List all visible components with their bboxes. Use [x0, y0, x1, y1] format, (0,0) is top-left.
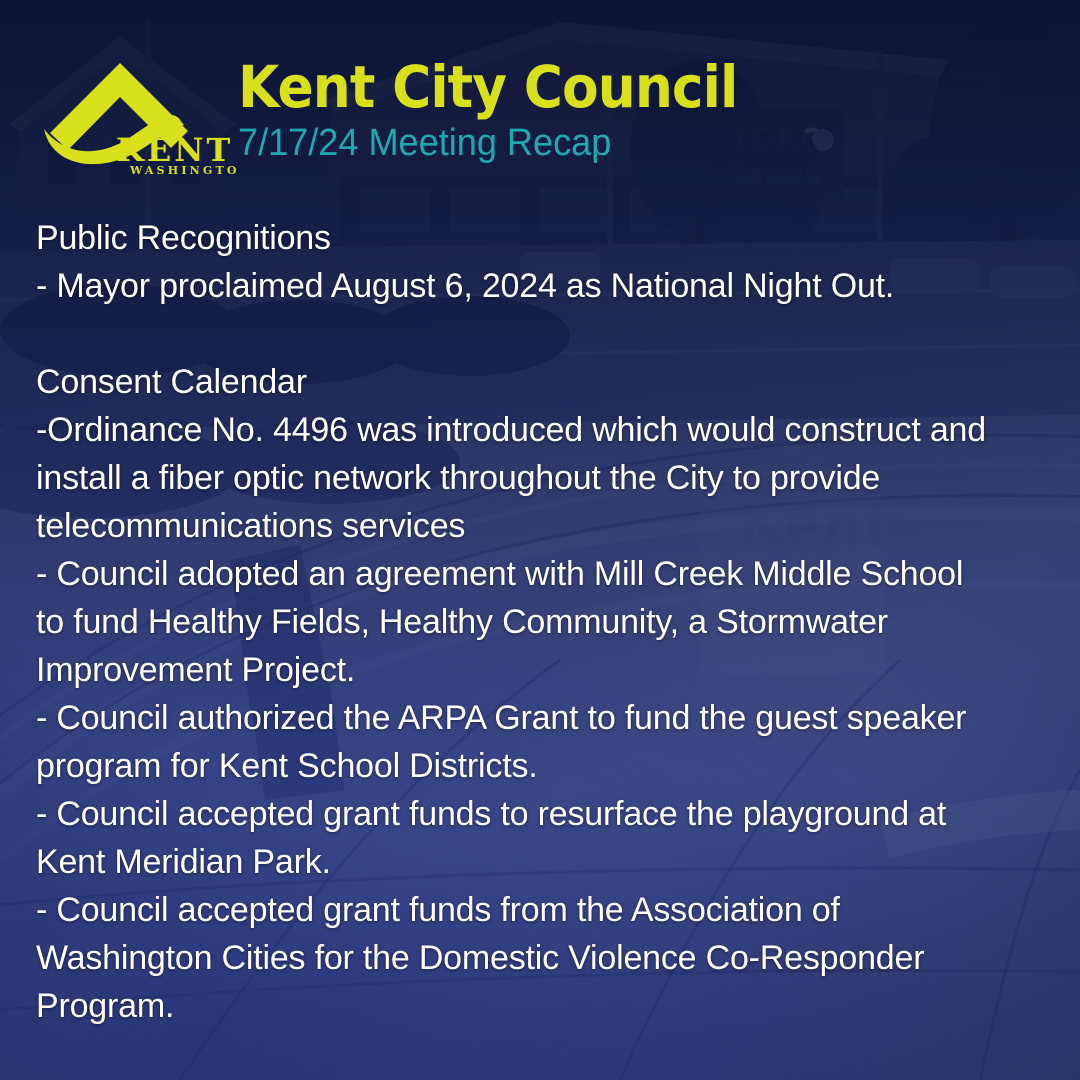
section-line: program for Kent School Districts. — [36, 742, 1046, 790]
section-line: - Council adopted an agreement with Mill… — [36, 550, 1046, 598]
logo-sub-wordmark: WASHINGTON — [129, 164, 238, 175]
section-line: - Mayor proclaimed August 6, 2024 as Nat… — [36, 262, 1046, 310]
recap-body: Public Recognitions - Mayor proclaimed A… — [36, 214, 1046, 1030]
section-public-recognitions: Public Recognitions - Mayor proclaimed A… — [36, 214, 1046, 310]
section-line: Improvement Project. — [36, 646, 1046, 694]
section-line: Program. — [36, 982, 1046, 1030]
kent-logo-mark: KENT WASHINGTON — [38, 55, 238, 175]
section-line: install a fiber optic network throughout… — [36, 454, 1046, 502]
section-line: to fund Healthy Fields, Healthy Communit… — [36, 598, 1046, 646]
section-heading: Consent Calendar — [36, 358, 1046, 406]
section-line: Kent Meridian Park. — [36, 838, 1046, 886]
page-title: Kent City Council — [238, 58, 737, 116]
section-line: telecommunications services — [36, 502, 1046, 550]
section-line: -Ordinance No. 4496 was introduced which… — [36, 406, 1046, 454]
title-block: Kent City Council 7/17/24 Meeting Recap — [238, 58, 781, 162]
section-line: - Council accepted grant funds to resurf… — [36, 790, 1046, 838]
section-line: - Council authorized the ARPA Grant to f… — [36, 694, 1046, 742]
section-consent-calendar: Consent Calendar -Ordinance No. 4496 was… — [36, 358, 1046, 1030]
meeting-recap-poster: TORO taxes — [0, 0, 1080, 1080]
section-heading: Public Recognitions — [36, 214, 1046, 262]
kent-washington-logo: KENT WASHINGTON — [38, 55, 238, 175]
page-subtitle: 7/17/24 Meeting Recap — [238, 124, 754, 162]
section-line: - Council accepted grant funds from the … — [36, 886, 1046, 934]
section-line: Washington Cities for the Domestic Viole… — [36, 934, 1046, 982]
poster-header: KENT WASHINGTON Kent City Council 7/17/2… — [0, 0, 1080, 200]
